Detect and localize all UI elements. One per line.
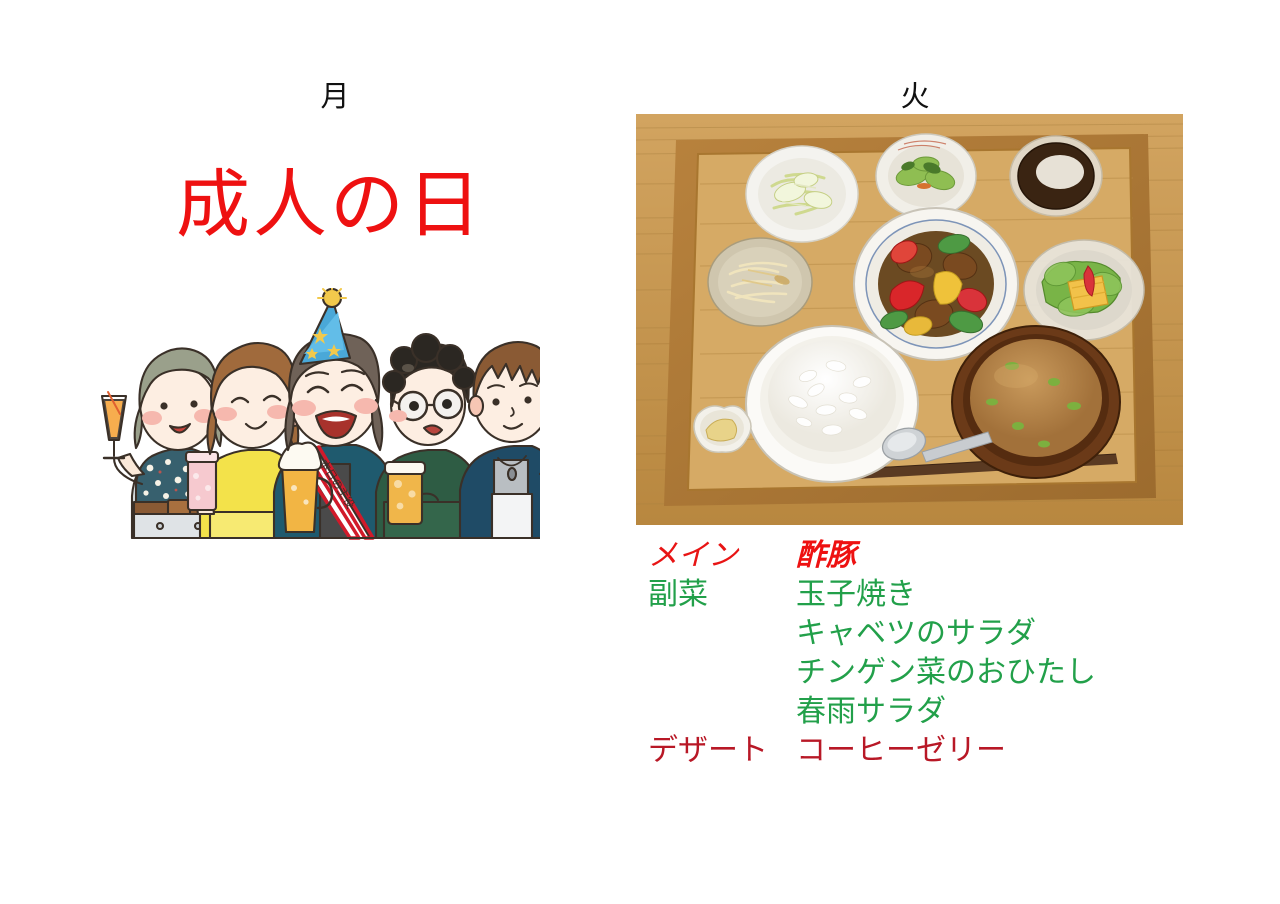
- menu-label-side: 副菜: [648, 575, 796, 614]
- menu-value-side-2: キャベツのサラダ: [796, 614, 1036, 653]
- day-header-tuesday: 火: [825, 83, 1005, 112]
- menu-row-dessert: デザート コーヒーゼリー: [648, 731, 1208, 770]
- celebration-illustration: 本日の主役: [88, 288, 540, 540]
- menu-page: 月 火 成人の日: [0, 0, 1280, 904]
- holiday-title: 成人の日: [100, 168, 560, 242]
- menu-row-side-3: チンゲン菜のおひたし: [648, 653, 1208, 692]
- meal-photo: [636, 114, 1183, 525]
- menu-label-main: メイン: [648, 536, 796, 575]
- menu-label-dessert: デザート: [648, 731, 796, 770]
- menu-value-side-1: 玉子焼き: [796, 575, 916, 614]
- menu-row-side-2: キャベツのサラダ: [648, 614, 1208, 653]
- day-header-monday: 月: [245, 83, 425, 112]
- menu-value-main: 酢豚: [796, 536, 856, 575]
- menu-value-dessert: コーヒーゼリー: [796, 731, 1006, 770]
- menu-row-side-4: 春雨サラダ: [648, 692, 1208, 731]
- menu-row-main: メイン 酢豚: [648, 536, 1208, 575]
- menu-value-side-4: 春雨サラダ: [796, 692, 946, 731]
- menu-value-side-3: チンゲン菜のおひたし: [796, 653, 1096, 692]
- menu-list: メイン 酢豚 副菜 玉子焼き キャベツのサラダ チンゲン菜のおひたし 春雨サラダ…: [648, 536, 1208, 770]
- menu-row-side-1: 副菜 玉子焼き: [648, 575, 1208, 614]
